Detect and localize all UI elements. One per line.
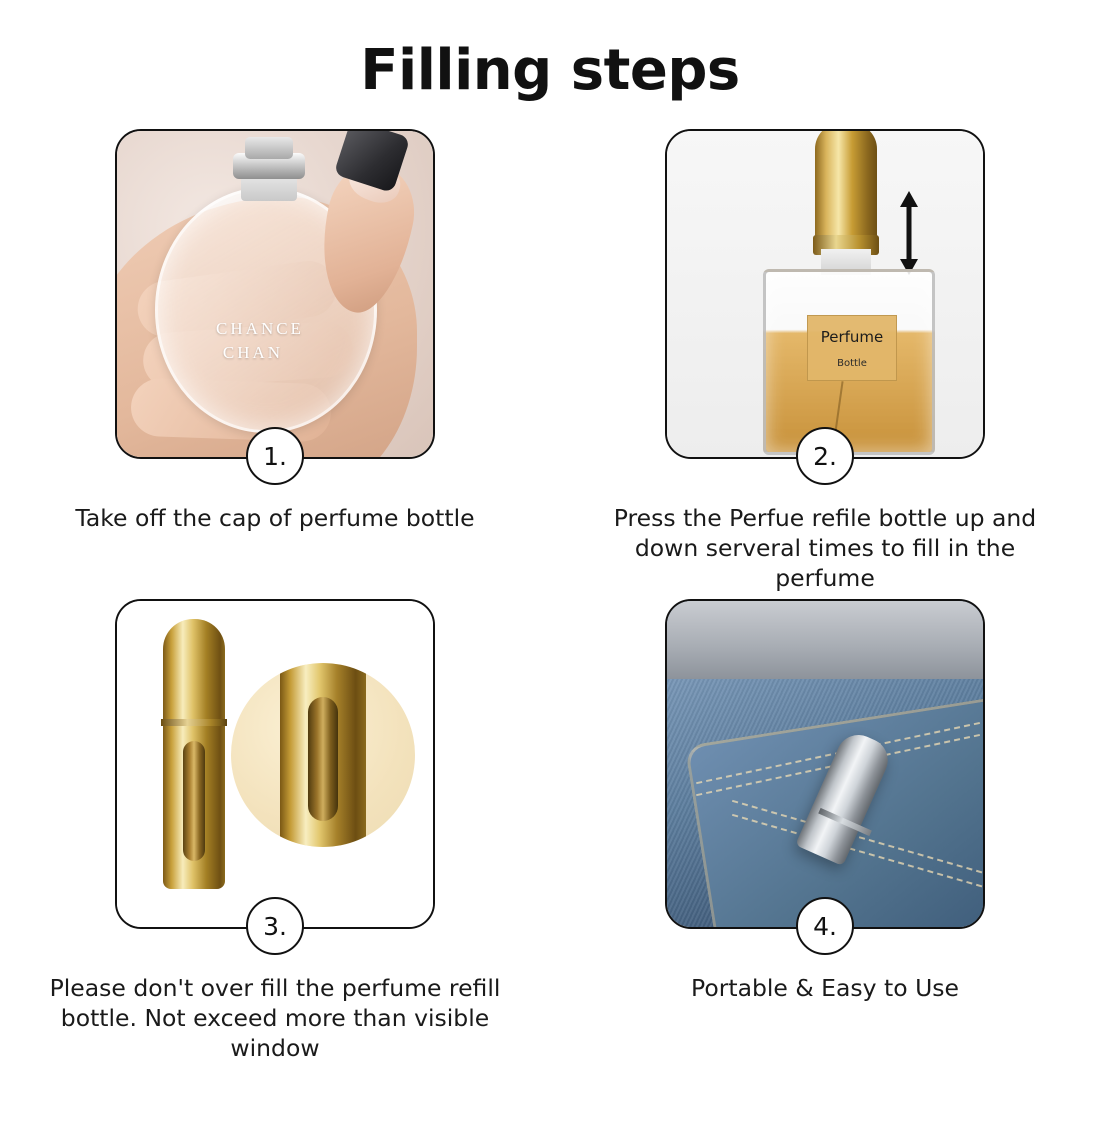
atomizer-split-ring [161,719,227,726]
bottle-brand-line-2: CHAN [163,343,343,363]
step-1-caption: Take off the cap of perfume bottle [75,503,474,533]
magnified-detail-circle [231,663,415,847]
step-2-image: Perfume Bottle [665,129,985,459]
step-1-scene: CHANCE CHAN [117,131,433,457]
page-title: Filling steps [0,38,1100,103]
step-3-card-wrap: 3. [115,599,435,929]
step-2-number-badge: 2. [796,427,854,485]
step-3-image [115,599,435,929]
step-3-number-badge: 3. [246,897,304,955]
gold-atomizer [815,129,877,243]
bottle-brand-line-1: CHANCE [165,319,355,339]
step-4-image [665,599,985,929]
step-1-number-badge: 1. [246,427,304,485]
step-4-scene [667,601,983,927]
background-wall [667,601,983,679]
step-1: CHANCE CHAN 1. Take off the cap of perfu… [15,129,535,593]
bottle-collar-top [245,137,293,159]
steps-grid: CHANCE CHAN 1. Take off the cap of perfu… [0,129,1100,1063]
step-4: 4. Portable & Easy to Use [565,599,1085,1063]
step-4-caption: Portable & Easy to Use [691,973,959,1003]
step-1-image: CHANCE CHAN [115,129,435,459]
step-3-caption: Please don't over fill the perfume refil… [45,973,505,1063]
magnified-visible-window [308,697,338,821]
step-2: Perfume Bottle 2. Press the Perfue refil… [565,129,1085,593]
step-4-number-badge: 4. [796,897,854,955]
visible-window [183,741,205,861]
label-text-perfume: Perfume [821,328,884,346]
step-2-scene: Perfume Bottle [667,131,983,457]
step-3-scene [117,601,433,927]
perfume-bottle-label: Perfume Bottle [807,315,897,381]
label-text-bottle: Bottle [837,358,867,369]
step-2-caption: Press the Perfue refile bottle up and do… [595,503,1055,593]
step-2-card-wrap: Perfume Bottle 2. [665,129,985,459]
up-down-arrow-icon [899,191,919,275]
step-4-card-wrap: 4. [665,599,985,929]
step-3: 3. Please don't over fill the perfume re… [15,599,535,1063]
step-1-card-wrap: CHANCE CHAN 1. [115,129,435,459]
